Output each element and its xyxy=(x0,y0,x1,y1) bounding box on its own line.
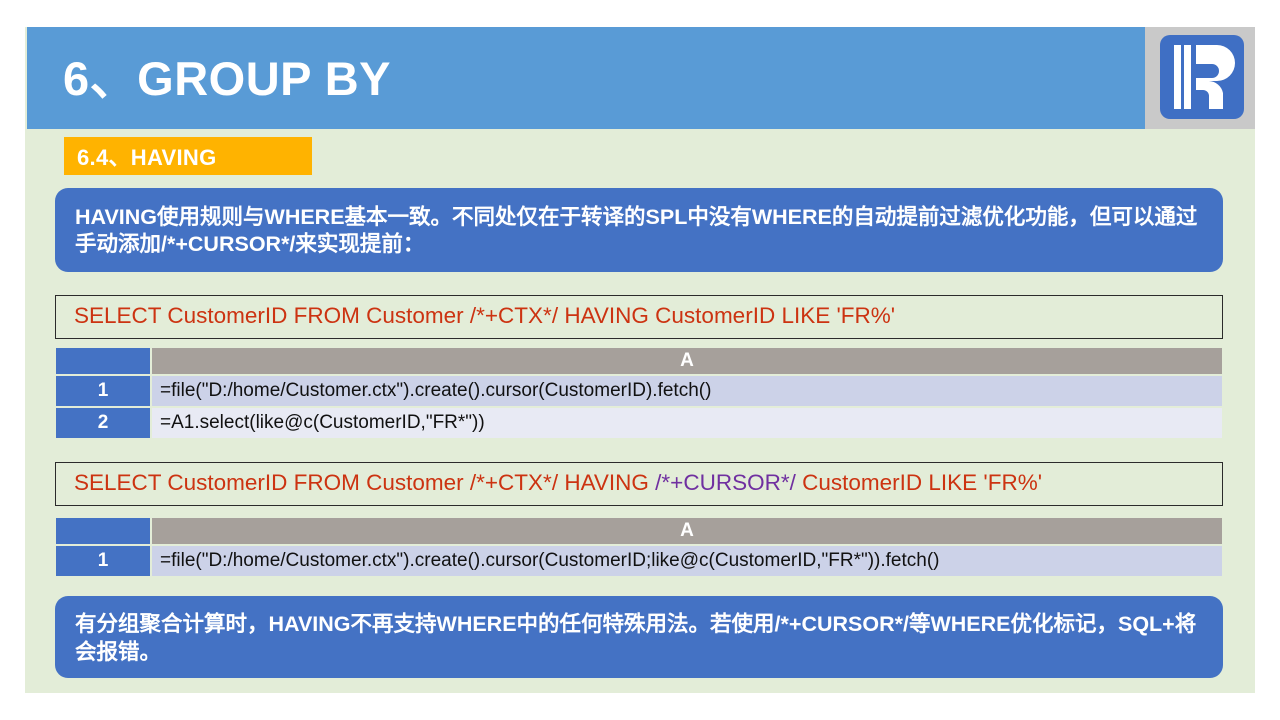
callout-top: HAVING使用规则与WHERE基本一致。不同处仅在于转译的SPL中没有WHER… xyxy=(55,188,1223,272)
section-badge: 6.4、HAVING xyxy=(64,137,312,175)
spl-cell: =file("D:/home/Customer.ctx").create().c… xyxy=(151,375,1223,407)
slide: 6、GROUP BY 6.4、HAVING HAVING使用规则与WHERE基本… xyxy=(0,0,1280,720)
sql-2-cursor-hint: /*+CURSOR*/ xyxy=(655,470,796,495)
sql-statement-2: SELECT CustomerID FROM Customer /*+CTX*/… xyxy=(55,462,1223,506)
sql-2-suffix: CustomerID LIKE 'FR%' xyxy=(796,470,1042,495)
row-index: 1 xyxy=(55,545,151,577)
page-title: 6、GROUP BY xyxy=(63,47,391,111)
table-row: 1 =file("D:/home/Customer.ctx").create()… xyxy=(55,375,1223,407)
table-row: 2 =A1.select(like@c(CustomerID,"FR*")) xyxy=(55,407,1223,439)
row-index: 2 xyxy=(55,407,151,439)
table-column-header-a: A xyxy=(151,517,1223,545)
table-header-row: A xyxy=(55,347,1223,375)
table-corner-cell xyxy=(55,347,151,375)
spl-cell: =file("D:/home/Customer.ctx").create().c… xyxy=(151,545,1223,577)
table-corner-cell xyxy=(55,517,151,545)
spl-table-2: A 1 =file("D:/home/Customer.ctx").create… xyxy=(55,517,1223,577)
sql-statement-1: SELECT CustomerID FROM Customer /*+CTX*/… xyxy=(55,295,1223,339)
spl-cell: =A1.select(like@c(CustomerID,"FR*")) xyxy=(151,407,1223,439)
callout-bottom: 有分组聚合计算时，HAVING不再支持WHERE中的任何特殊用法。若使用/*+C… xyxy=(55,596,1223,678)
table-column-header-a: A xyxy=(151,347,1223,375)
raqsoft-r-logo xyxy=(1160,35,1244,119)
section-badge-label: 6.4、HAVING xyxy=(64,140,217,172)
table-row: 1 =file("D:/home/Customer.ctx").create()… xyxy=(55,545,1223,577)
row-index: 1 xyxy=(55,375,151,407)
sql-2-prefix: SELECT CustomerID FROM Customer /*+CTX*/… xyxy=(74,470,655,495)
table-header-row: A xyxy=(55,517,1223,545)
sql-1-text: SELECT CustomerID FROM Customer /*+CTX*/… xyxy=(74,303,895,328)
spl-table-1: A 1 =file("D:/home/Customer.ctx").create… xyxy=(55,347,1223,439)
